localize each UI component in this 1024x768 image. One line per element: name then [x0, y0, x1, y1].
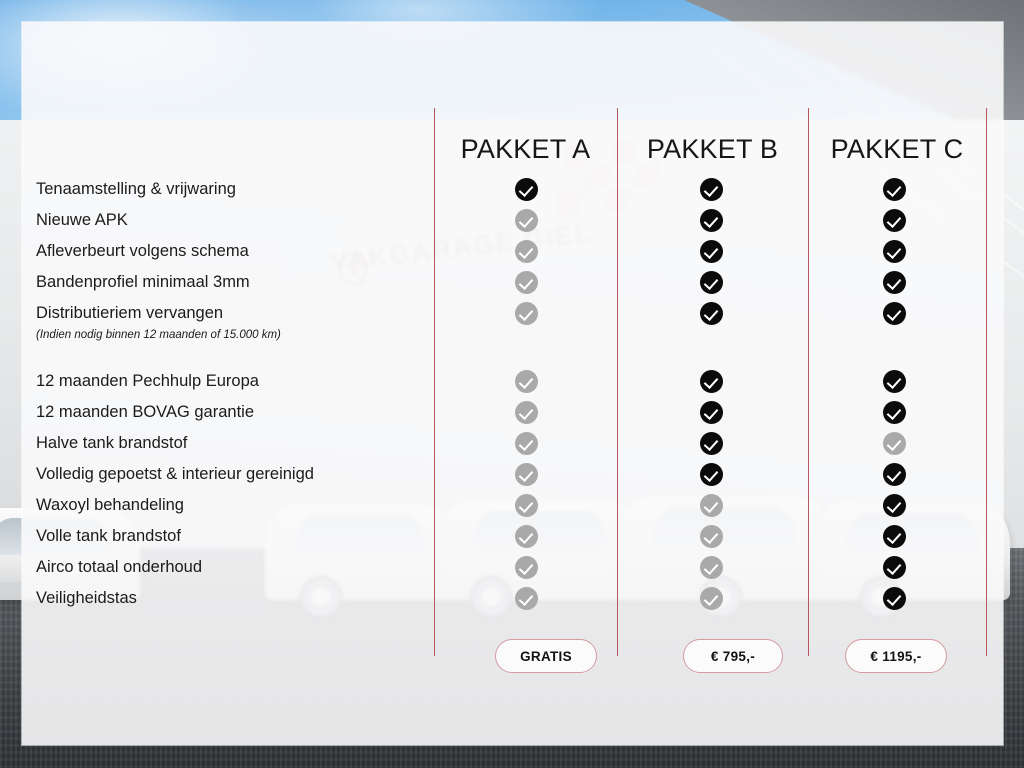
check-included-icon	[883, 370, 906, 393]
check-included-icon	[515, 178, 538, 201]
check-cell	[689, 552, 733, 583]
column-header-pakket-c: PAKKET C	[808, 134, 986, 165]
check-cell	[689, 428, 733, 459]
group-separator	[36, 344, 436, 366]
package-comparison-table: PAKKET A PAKKET B PAKKET C Tenaamstellin…	[22, 22, 1003, 745]
check-cell	[872, 459, 916, 490]
check-excluded-icon	[700, 494, 723, 517]
check-cell	[872, 174, 916, 205]
feature-label: Volle tank brandstof	[36, 521, 436, 552]
column-divider	[617, 108, 618, 656]
check-cell	[504, 490, 548, 521]
check-cell	[689, 459, 733, 490]
check-included-icon	[700, 432, 723, 455]
check-cell	[872, 236, 916, 267]
check-included-icon	[883, 209, 906, 232]
column-divider	[808, 108, 809, 656]
check-included-icon	[883, 178, 906, 201]
check-included-icon	[883, 463, 906, 486]
check-cell	[504, 174, 548, 205]
feature-footnote: (Indien nodig binnen 12 maanden of 15.00…	[36, 326, 436, 344]
check-cell	[872, 298, 916, 329]
check-cell	[872, 428, 916, 459]
check-included-icon	[700, 271, 723, 294]
check-cell	[872, 583, 916, 614]
check-included-icon	[700, 401, 723, 424]
check-cell	[504, 366, 548, 397]
group-separator	[689, 344, 733, 366]
check-excluded-icon	[515, 401, 538, 424]
check-column-pakket-b	[689, 174, 733, 614]
check-cell	[689, 267, 733, 298]
check-included-icon	[883, 525, 906, 548]
feature-label: Tenaamstelling & vrijwaring	[36, 174, 436, 205]
feature-label: Afleverbeurt volgens schema	[36, 236, 436, 267]
price-badge-pakket-b[interactable]: € 795,-	[683, 639, 783, 673]
check-included-icon	[883, 587, 906, 610]
check-cell	[504, 428, 548, 459]
check-excluded-icon	[515, 209, 538, 232]
check-cell	[872, 521, 916, 552]
group-separator	[872, 344, 916, 366]
check-cell	[504, 298, 548, 329]
check-cell	[504, 236, 548, 267]
price-badge-pakket-c[interactable]: € 1195,-	[845, 639, 947, 673]
check-included-icon	[883, 240, 906, 263]
check-cell	[689, 205, 733, 236]
check-cell	[689, 236, 733, 267]
check-excluded-icon	[515, 370, 538, 393]
feature-label: 12 maanden Pechhulp Europa	[36, 366, 436, 397]
check-excluded-icon	[515, 240, 538, 263]
check-cell	[689, 583, 733, 614]
check-cell	[504, 267, 548, 298]
check-cell	[872, 205, 916, 236]
check-cell	[689, 366, 733, 397]
check-cell	[689, 490, 733, 521]
price-badge-pakket-a[interactable]: GRATIS	[495, 639, 597, 673]
check-excluded-icon	[515, 463, 538, 486]
check-excluded-icon	[515, 587, 538, 610]
feature-label: Veiligheidstas	[36, 583, 436, 614]
check-excluded-icon	[883, 432, 906, 455]
check-included-icon	[700, 370, 723, 393]
check-excluded-icon	[515, 302, 538, 325]
check-cell	[504, 552, 548, 583]
column-header-pakket-b: PAKKET B	[617, 134, 808, 165]
check-included-icon	[883, 556, 906, 579]
column-divider	[986, 108, 987, 656]
feature-label: Distributieriem vervangen	[36, 298, 436, 329]
footnote-spacer	[872, 326, 916, 344]
feature-label: Waxoyl behandeling	[36, 490, 436, 521]
check-cell	[872, 397, 916, 428]
check-cell	[689, 174, 733, 205]
check-cell	[504, 583, 548, 614]
footnote-spacer	[504, 326, 548, 344]
group-separator	[504, 344, 548, 366]
feature-label: Halve tank brandstof	[36, 428, 436, 459]
check-cell	[689, 521, 733, 552]
check-column-pakket-c	[872, 174, 916, 614]
check-cell	[872, 552, 916, 583]
check-excluded-icon	[700, 525, 723, 548]
check-cell	[504, 521, 548, 552]
check-cell	[872, 267, 916, 298]
check-cell	[689, 397, 733, 428]
check-included-icon	[700, 209, 723, 232]
feature-label: 12 maanden BOVAG garantie	[36, 397, 436, 428]
content-panel: PAKKET A PAKKET B PAKKET C Tenaamstellin…	[22, 22, 1003, 745]
feature-label: Volledig gepoetst & interieur gereinigd	[36, 459, 436, 490]
check-excluded-icon	[700, 587, 723, 610]
check-included-icon	[700, 302, 723, 325]
check-excluded-icon	[700, 556, 723, 579]
column-header-pakket-a: PAKKET A	[434, 134, 617, 165]
feature-label: Nieuwe APK	[36, 205, 436, 236]
check-excluded-icon	[515, 432, 538, 455]
check-cell	[504, 397, 548, 428]
feature-label-column: Tenaamstelling & vrijwaring Nieuwe APK A…	[36, 174, 436, 614]
check-excluded-icon	[515, 556, 538, 579]
check-excluded-icon	[515, 271, 538, 294]
check-included-icon	[700, 463, 723, 486]
check-included-icon	[883, 271, 906, 294]
check-column-pakket-a	[504, 174, 548, 614]
footnote-spacer	[689, 326, 733, 344]
check-excluded-icon	[515, 525, 538, 548]
check-cell	[872, 366, 916, 397]
check-cell	[504, 205, 548, 236]
check-cell	[872, 490, 916, 521]
check-included-icon	[700, 240, 723, 263]
feature-label: Airco totaal onderhoud	[36, 552, 436, 583]
check-included-icon	[883, 302, 906, 325]
feature-label: Bandenprofiel minimaal 3mm	[36, 267, 436, 298]
check-included-icon	[883, 401, 906, 424]
check-included-icon	[883, 494, 906, 517]
check-included-icon	[700, 178, 723, 201]
check-cell	[689, 298, 733, 329]
check-excluded-icon	[515, 494, 538, 517]
check-cell	[504, 459, 548, 490]
